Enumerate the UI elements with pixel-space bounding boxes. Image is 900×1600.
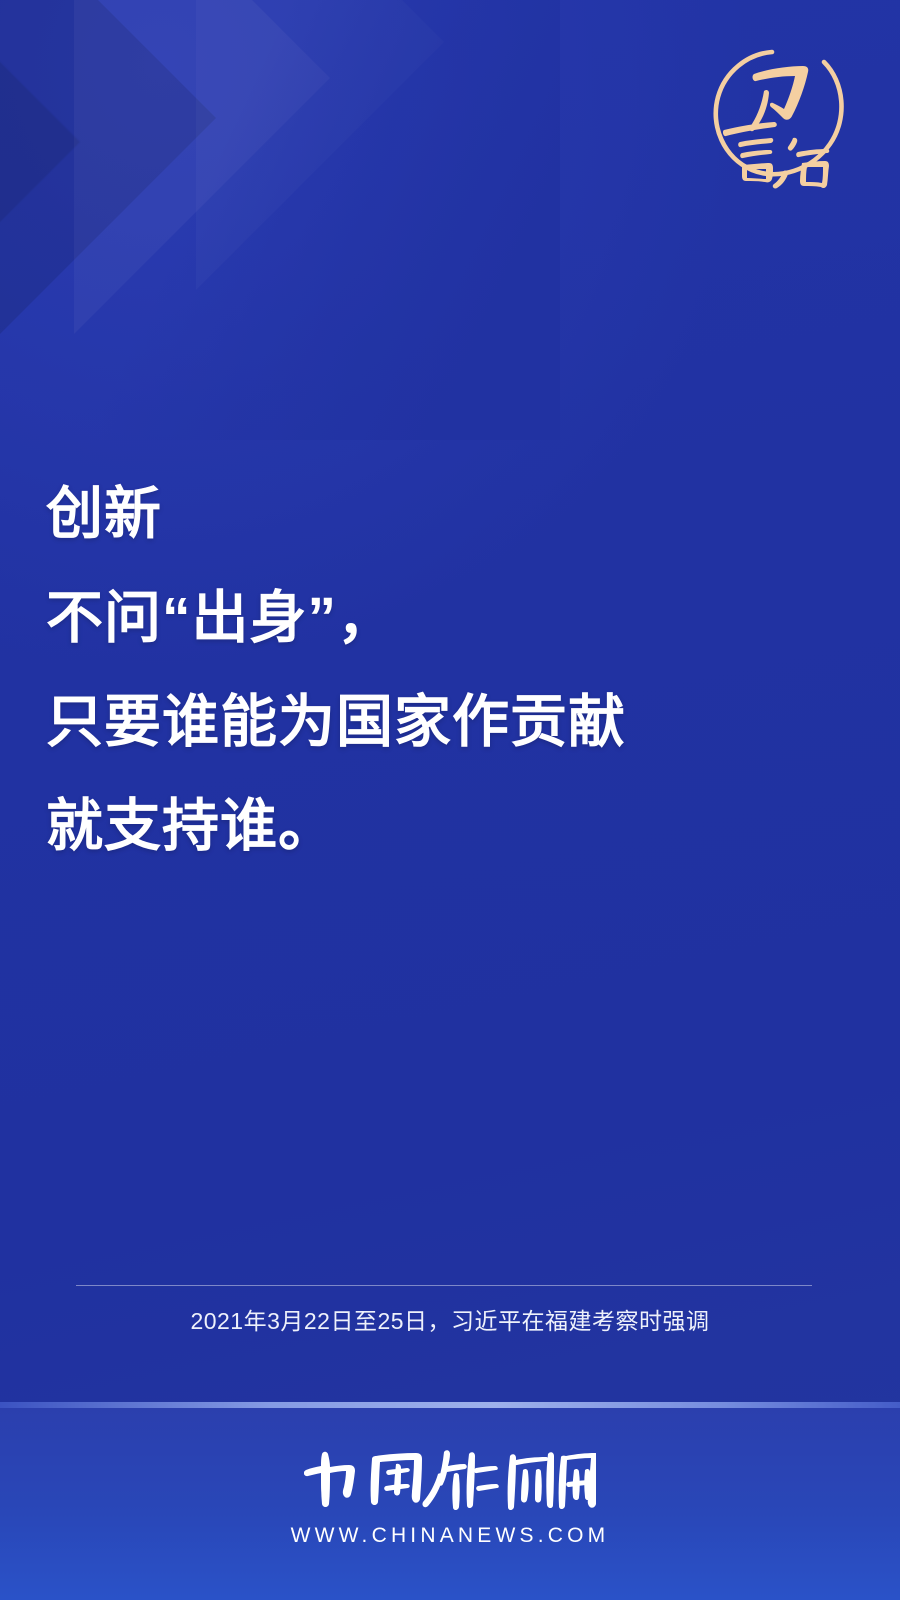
- quote-line-2: 不问“出身”，: [46, 566, 856, 670]
- quote-line-1: 创新: [46, 462, 856, 566]
- quote-line-3: 只要谁能为国家作贡献: [46, 670, 856, 774]
- chevron-icon: [0, 0, 80, 402]
- footer: WWW.CHINANEWS.COM: [0, 1440, 900, 1548]
- poster-canvas: 创新 不问“出身”， 只要谁能为国家作贡献 就支持谁。 2021年3月22日至2…: [0, 0, 900, 1600]
- footer-url[interactable]: WWW.CHINANEWS.COM: [0, 1524, 900, 1548]
- chevron-decoration: [0, 0, 560, 440]
- attribution-text: 2021年3月22日至25日，习近平在福建考察时强调: [0, 1282, 900, 1336]
- chinanews-wordmark-logo: [304, 1440, 596, 1512]
- brand-seal-logo: [698, 34, 850, 192]
- chevron-fade-overlay: [0, 0, 560, 440]
- chevron-icon: [74, 0, 330, 334]
- quote-line-4: 就支持谁。: [46, 774, 856, 878]
- chevron-icon: [0, 0, 216, 386]
- quote-text: 创新 不问“出身”， 只要谁能为国家作贡献 就支持谁。: [46, 462, 856, 878]
- chevron-icon: [196, 0, 444, 290]
